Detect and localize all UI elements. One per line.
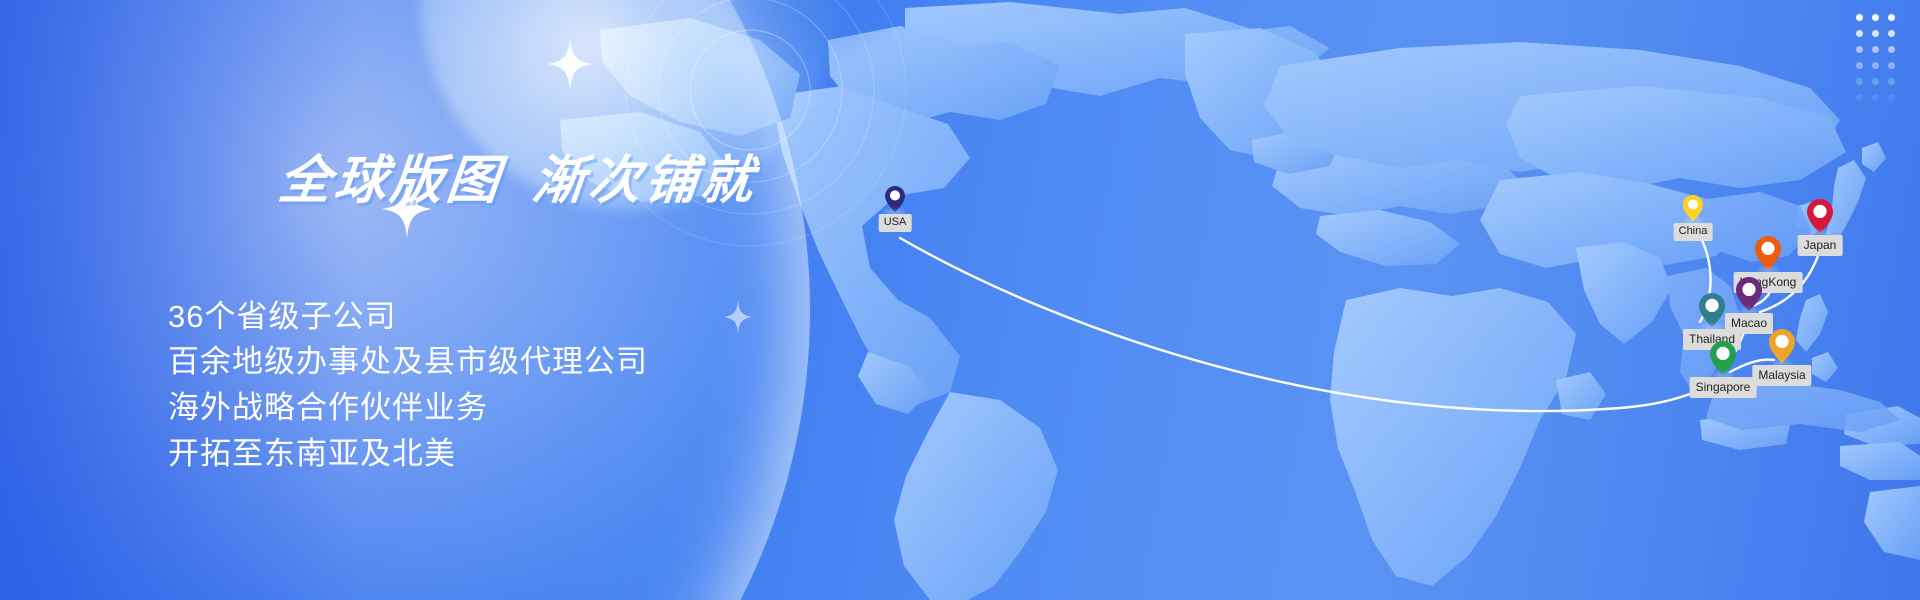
map-marker-china[interactable]: China	[1683, 195, 1703, 221]
map-pin-icon	[1755, 236, 1781, 270]
map-marker-singapore[interactable]: Singapore	[1710, 341, 1736, 375]
map-marker-thailand[interactable]: Thailand	[1699, 293, 1725, 327]
banner-subline: 百余地级办事处及县市级代理公司	[168, 339, 928, 385]
map-pin-icon	[1769, 329, 1795, 363]
map-pin-icon	[1699, 293, 1725, 327]
map-marker-label: Malaysia	[1752, 365, 1811, 386]
dot-grid-decoration	[1852, 10, 1898, 104]
map-pin-icon	[1710, 341, 1736, 375]
headline-part-right: 渐次铺就	[530, 152, 760, 210]
headline-part-left: 全球版图	[276, 152, 506, 210]
map-marker-malaysia[interactable]: Malaysia	[1769, 329, 1795, 363]
banner-text-block: 全球版图渐次铺就 36个省级子公司百余地级办事处及县市级代理公司海外战略合作伙伴…	[168, 96, 928, 477]
map-marker-label: China	[1674, 223, 1713, 241]
banner-subline: 36个省级子公司	[168, 294, 928, 340]
map-marker-label: Japan	[1798, 235, 1843, 256]
map-marker-japan[interactable]: Japan	[1807, 199, 1833, 233]
banner-subline: 开拓至东南亚及北美	[168, 431, 928, 477]
map-marker-hongkong[interactable]: HongKong	[1755, 236, 1781, 270]
banner-headline: 全球版图渐次铺就	[159, 96, 937, 268]
map-pin-icon	[1736, 277, 1762, 311]
map-marker-label: Singapore	[1690, 377, 1757, 398]
map-marker-macao[interactable]: Macao	[1736, 277, 1762, 311]
map-pin-icon	[1807, 199, 1833, 233]
map-pin-icon	[1683, 195, 1703, 221]
global-map-banner: USAChinaJapanHongKongMacaoThailandMalays…	[0, 0, 1920, 600]
banner-subline-list: 36个省级子公司百余地级办事处及县市级代理公司海外战略合作伙伴业务开拓至东南亚及…	[168, 294, 928, 478]
banner-subline: 海外战略合作伙伴业务	[168, 385, 928, 431]
